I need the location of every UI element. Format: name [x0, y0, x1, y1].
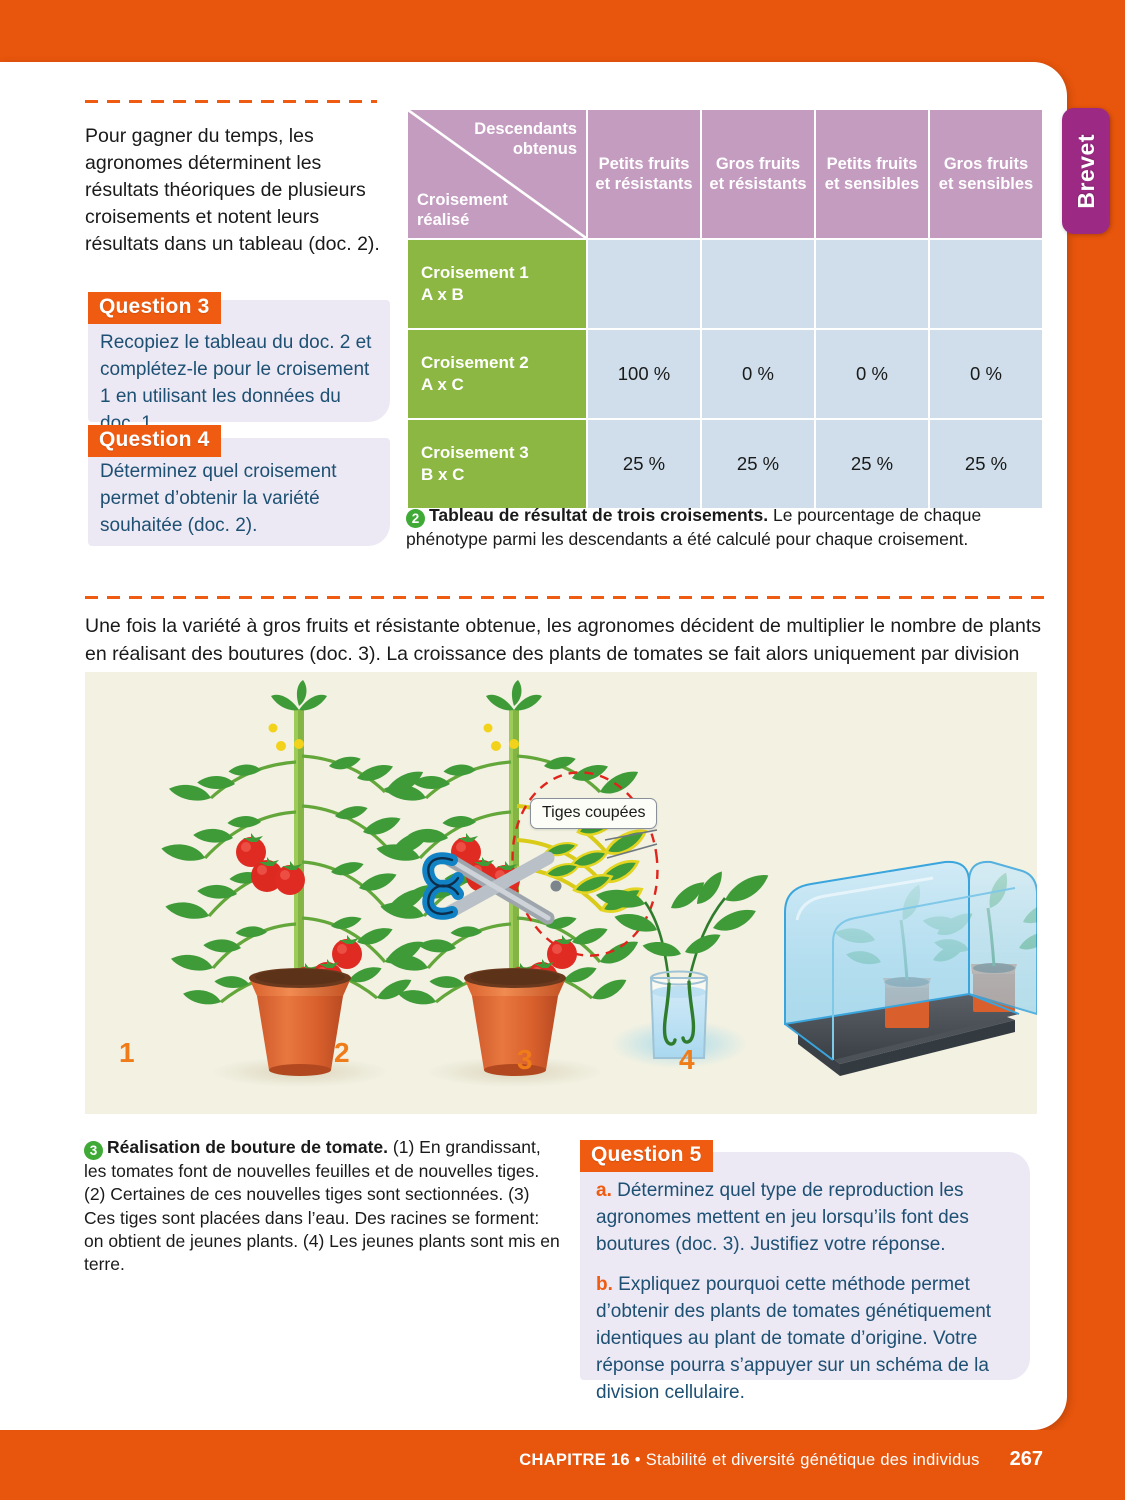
- q5-b-text: Expliquez pourquoi cette méthode permet …: [596, 1274, 991, 1403]
- row2-cell-2: 25 %: [816, 420, 928, 508]
- q5-b-marker: b.: [596, 1274, 613, 1295]
- table-row: Croisement 2 A x C 100 % 0 % 0 % 0 %: [408, 330, 1042, 418]
- col0-line2: et résistants: [595, 175, 692, 193]
- question-4-text: Déterminez quel croisement permet d’obte…: [100, 459, 370, 540]
- corner-desc-line1: Descendants: [474, 120, 577, 138]
- row1-cell-2: 0 %: [816, 330, 928, 418]
- row1-cell-0: 100 %: [588, 330, 700, 418]
- step-number-2: 2: [334, 1037, 350, 1069]
- row1-line1: Croisement 2: [421, 353, 529, 372]
- row1-line2: A x C: [421, 375, 464, 394]
- row1-cell-1: 0 %: [702, 330, 814, 418]
- table-header-row: Descendants obtenus Croisement réalisé P…: [408, 110, 1042, 238]
- col1-line1: Gros fruits: [716, 155, 800, 173]
- page-footer: CHAPITRE 16 • Stabilité et diversité gén…: [0, 1430, 1125, 1500]
- callout-tiges-coupees: Tiges coupées: [530, 798, 657, 829]
- dashed-divider-middle: [85, 596, 1045, 599]
- question-3-label: Question 3: [88, 292, 221, 324]
- corner-crois-line1: Croisement: [417, 191, 508, 209]
- col0-line1: Petits fruits: [599, 155, 690, 173]
- question-5-part-b: b. Expliquez pourquoi cette méthode perm…: [596, 1272, 1016, 1407]
- row0-line2: A x B: [421, 285, 464, 304]
- row2-cell-3: 25 %: [930, 420, 1042, 508]
- brevet-tab[interactable]: Brevet: [1062, 108, 1110, 234]
- results-table: Descendants obtenus Croisement réalisé P…: [406, 108, 1044, 510]
- table-row: Croisement 3 B x C 25 % 25 % 25 % 25 %: [408, 420, 1042, 508]
- caption-3-text: (1) En grandissant, les tomates font de …: [84, 1137, 560, 1274]
- row0-header: Croisement 1 A x B: [408, 240, 586, 328]
- intro-paragraph: Pour gagner du temps, les agronomes déte…: [85, 123, 385, 258]
- row2-line2: B x C: [421, 465, 464, 484]
- row2-header: Croisement 3 B x C: [408, 420, 586, 508]
- caption-3-number-icon: 3: [84, 1141, 103, 1160]
- caption-2-number-icon: 2: [406, 509, 425, 528]
- page-root: Brevet Pour gagner du temps, les agronom…: [0, 0, 1125, 1500]
- step-number-1: 1: [119, 1037, 135, 1069]
- question-4-label: Question 4: [88, 425, 221, 457]
- row0-cell-1: [702, 240, 814, 328]
- footer-separator: •: [630, 1451, 646, 1469]
- q5-a-marker: a.: [596, 1180, 612, 1201]
- greenhouse-illustration: [785, 862, 1037, 1076]
- step-number-3: 3: [517, 1044, 533, 1076]
- table-col-header-3: Gros fruits et sensibles: [930, 110, 1042, 238]
- corner-crois-line2: réalisé: [417, 211, 469, 229]
- caption-3-title: Réalisation de bouture de tomate.: [107, 1137, 388, 1157]
- cutting-in-water-illustration: [595, 869, 774, 1068]
- table-col-header-2: Petits fruits et sensibles: [816, 110, 928, 238]
- col1-line2: et résistants: [709, 175, 806, 193]
- row0-cell-3: [930, 240, 1042, 328]
- q5-a-text: Déterminez quel type de reproduction les…: [596, 1180, 969, 1255]
- table-col-header-1: Gros fruits et résistants: [702, 110, 814, 238]
- col3-line2: et sensibles: [939, 175, 1033, 193]
- row2-cell-0: 25 %: [588, 420, 700, 508]
- caption-doc-2: 2Tableau de résultat de trois croisement…: [406, 504, 1046, 551]
- col2-line2: et sensibles: [825, 175, 919, 193]
- row0-line1: Croisement 1: [421, 263, 529, 282]
- question-3-text: Recopiez le tableau du doc. 2 et complét…: [100, 330, 380, 438]
- figure-illustration: [85, 672, 1037, 1114]
- caption-doc-3: 3Réalisation de bouture de tomate. (1) E…: [84, 1136, 562, 1276]
- table-corner-header: Descendants obtenus Croisement réalisé: [408, 110, 586, 238]
- plant-2-illustration: [375, 680, 669, 1087]
- footer-chapter-number: CHAPITRE 16: [519, 1451, 630, 1469]
- row1-cell-3: 0 %: [930, 330, 1042, 418]
- col3-line1: Gros fruits: [944, 155, 1028, 173]
- row0-cell-2: [816, 240, 928, 328]
- col2-line1: Petits fruits: [827, 155, 918, 173]
- row1-header: Croisement 2 A x C: [408, 330, 586, 418]
- brevet-tab-label: Brevet: [1073, 134, 1100, 209]
- caption-2-title: Tableau de résultat de trois croisements…: [429, 505, 768, 525]
- step-number-4: 4: [679, 1044, 695, 1076]
- plant-1-illustration: [160, 680, 435, 1087]
- question-5-label: Question 5: [580, 1140, 713, 1172]
- footer-chapter-title: Stabilité et diversité génétique des ind…: [646, 1451, 980, 1469]
- row2-line1: Croisement 3: [421, 443, 529, 462]
- figure-bouture: 1 2 3 4 Tiges coupées: [85, 672, 1037, 1114]
- table-col-header-0: Petits fruits et résistants: [588, 110, 700, 238]
- question-5-text: a. Déterminez quel type de reproduction …: [596, 1178, 1016, 1407]
- row2-cell-1: 25 %: [702, 420, 814, 508]
- row0-cell-0: [588, 240, 700, 328]
- footer-chapter: CHAPITRE 16 • Stabilité et diversité gén…: [519, 1451, 979, 1470]
- footer-content: CHAPITRE 16 • Stabilité et diversité gén…: [519, 1448, 1043, 1471]
- table-row: Croisement 1 A x B: [408, 240, 1042, 328]
- question-5-part-a: a. Déterminez quel type de reproduction …: [596, 1178, 1016, 1259]
- footer-page-number: 267: [1010, 1448, 1043, 1471]
- dashed-divider-top: [85, 100, 377, 103]
- corner-descendants-label: Descendants obtenus: [474, 119, 577, 159]
- corner-croisement-label: Croisement réalisé: [417, 190, 508, 230]
- corner-desc-line2: obtenus: [513, 140, 577, 158]
